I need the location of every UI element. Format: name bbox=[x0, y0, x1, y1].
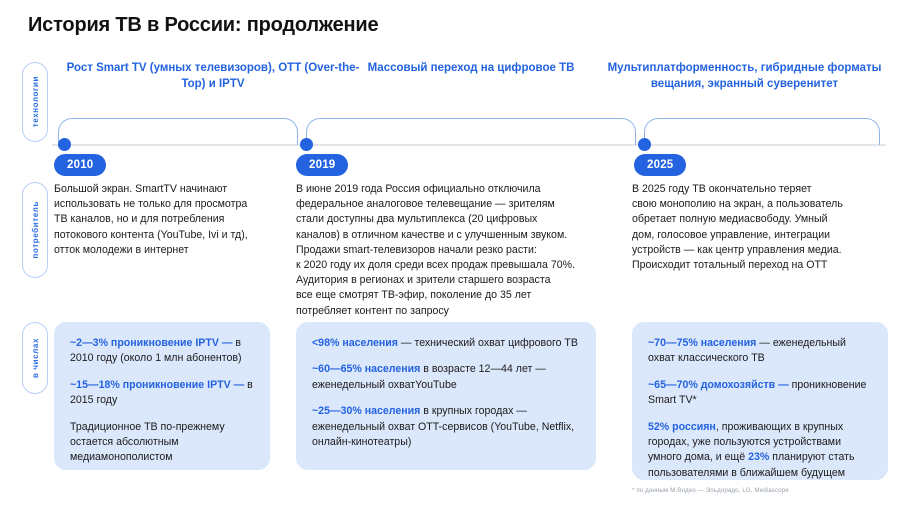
numbers-card-item: ~15—18% проникновение IPTV — в 2015 году bbox=[70, 378, 254, 409]
consumer-text-2025: В 2025 году ТВ окончательно теряет свою … bbox=[632, 182, 888, 273]
timeline-bracket-2 bbox=[306, 118, 636, 145]
numbers-highlight: ~15—18% проникновение IPTV — bbox=[70, 379, 244, 391]
numbers-text: Традиционное ТВ по-прежнему остается абс… bbox=[70, 421, 225, 464]
numbers-highlight: <98% населения bbox=[312, 337, 398, 349]
row-label-technologies: технологии bbox=[22, 62, 48, 142]
timeline: Рост Smart TV (умных телевизоров), OTT (… bbox=[52, 60, 886, 180]
numbers-card-item: ~70—75% населения — еженедельный охват к… bbox=[648, 336, 872, 367]
row-label-consumer: потребитель bbox=[22, 182, 48, 278]
year-badge-2010[interactable]: 2010 bbox=[54, 154, 106, 176]
numbers-card-item: 52% россиян, проживающих в крупных город… bbox=[648, 420, 872, 482]
tech-heading-2010: Рост Smart TV (умных телевизоров), OTT (… bbox=[58, 60, 368, 92]
row-label-consumer-text: потребитель bbox=[31, 201, 40, 259]
year-badge-2019[interactable]: 2019 bbox=[296, 154, 348, 176]
numbers-card-item: <98% населения — технический охват цифро… bbox=[312, 336, 580, 351]
timeline-bracket-1 bbox=[58, 118, 298, 145]
numbers-highlight: ~25—30% населения bbox=[312, 405, 420, 417]
numbers-highlight: ~60—65% населения bbox=[312, 363, 420, 375]
numbers-card-item: ~25—30% населения в крупных городах — еж… bbox=[312, 404, 580, 450]
numbers-highlight: 23% bbox=[748, 451, 769, 463]
numbers-card-item: ~2—3% проникновение IPTV — в 2010 году (… bbox=[70, 336, 254, 367]
infographic-page: История ТВ в России: продолжение техноло… bbox=[0, 0, 900, 506]
timeline-node-dot-2019[interactable] bbox=[300, 138, 313, 151]
consumer-text-2019: В июне 2019 года Россия официально отклю… bbox=[296, 182, 632, 319]
consumer-text-2010: Большой экран. SmartTV начинают использо… bbox=[54, 182, 299, 258]
numbers-highlight: 52% россиян bbox=[648, 421, 716, 433]
numbers-highlight: ~2—3% проникновение IPTV — bbox=[70, 337, 232, 349]
tech-heading-2025: Мультиплатформенность, гибридные форматы… bbox=[607, 60, 882, 92]
numbers-card-item: ~65—70% домохозяйств — проникновение Sma… bbox=[648, 378, 872, 409]
numbers-card-item: Традиционное ТВ по-прежнему остается абс… bbox=[70, 420, 254, 466]
tech-heading-2019: Массовый переход на цифровое ТВ bbox=[352, 60, 590, 76]
page-title: История ТВ в России: продолжение bbox=[28, 14, 378, 37]
row-label-numbers-text: в числах bbox=[31, 338, 40, 378]
numbers-card-2025: ~70—75% населения — еженедельный охват к… bbox=[632, 322, 888, 480]
timeline-node-dot-2025[interactable] bbox=[638, 138, 651, 151]
numbers-card-2019: <98% населения — технический охват цифро… bbox=[296, 322, 596, 470]
footnote: * по данным М.Видео — Эльдорадо, LG, Med… bbox=[632, 487, 789, 494]
timeline-bracket-3 bbox=[644, 118, 880, 145]
numbers-highlight: ~70—75% населения bbox=[648, 337, 756, 349]
timeline-node-dot-2010[interactable] bbox=[58, 138, 71, 151]
year-badge-2025[interactable]: 2025 bbox=[634, 154, 686, 176]
numbers-card-item: ~60—65% населения в возрасте 12—44 лет —… bbox=[312, 362, 580, 393]
row-label-numbers: в числах bbox=[22, 322, 48, 394]
numbers-card-2010: ~2—3% проникновение IPTV — в 2010 году (… bbox=[54, 322, 270, 470]
numbers-highlight: ~65—70% домохозяйств — bbox=[648, 379, 789, 391]
row-label-technologies-text: технологии bbox=[31, 76, 40, 127]
numbers-text: — технический охват цифрового ТВ bbox=[398, 337, 578, 349]
